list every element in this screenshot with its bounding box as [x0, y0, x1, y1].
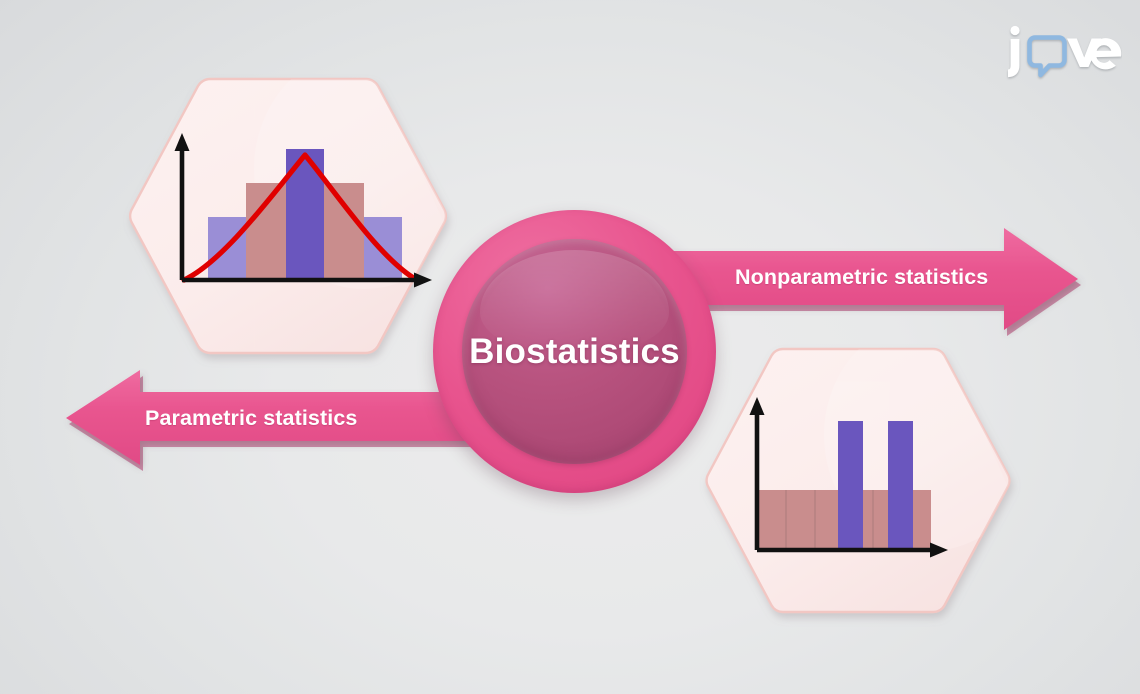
- histogram-bar-2: [246, 183, 286, 280]
- hexagon-nonparametric[interactable]: [708, 343, 1008, 631]
- hexagon-parametric-graphic: [132, 73, 444, 373]
- highlight-bar-1: [838, 421, 863, 550]
- hexagon-parametric[interactable]: [132, 73, 444, 373]
- center-node-biostatistics[interactable]: Biostatistics: [433, 210, 716, 493]
- arrow-parametric-label: Parametric statistics: [145, 406, 357, 431]
- highlight-bar-2: [888, 421, 913, 550]
- histogram-bar-4: [324, 183, 364, 280]
- hexagon-nonparametric-graphic: [708, 343, 1008, 631]
- arrow-nonparametric-label: Nonparametric statistics: [735, 265, 988, 290]
- center-node-title: Biostatistics: [469, 332, 680, 372]
- slide-canvas: Nonparametric statistics Parametric stat…: [0, 0, 1140, 694]
- center-node-inner: Biostatistics: [462, 239, 687, 464]
